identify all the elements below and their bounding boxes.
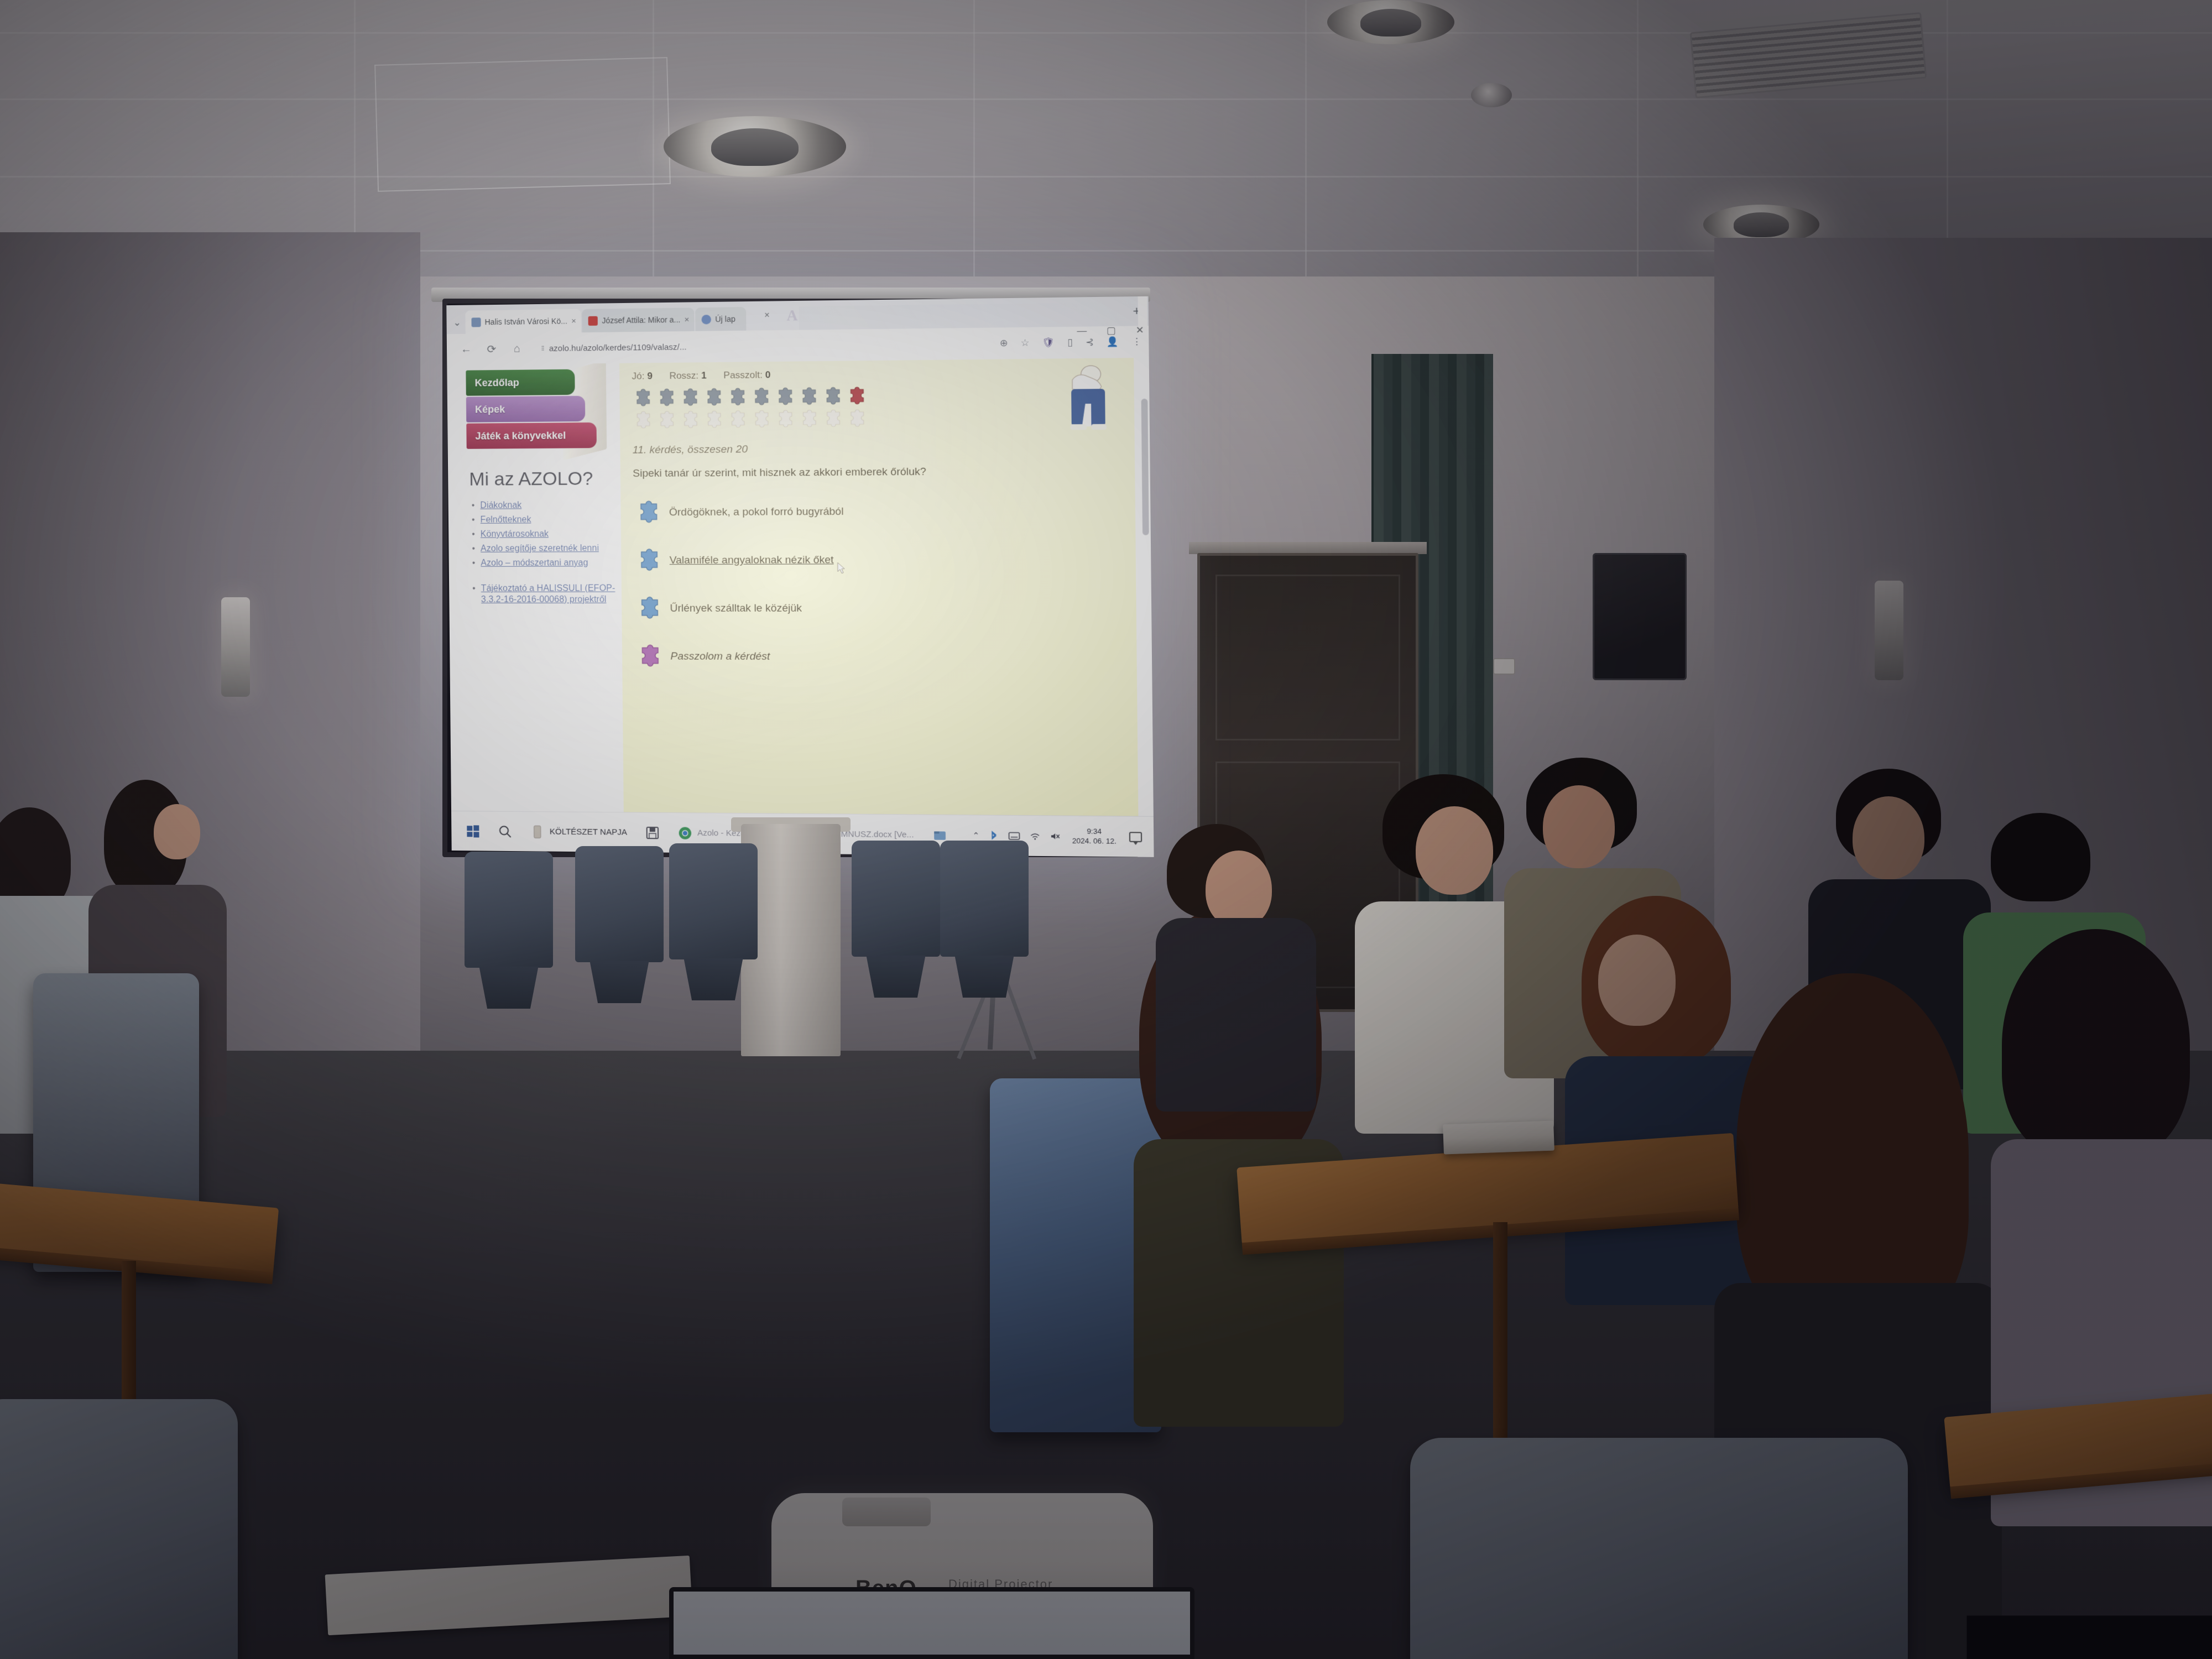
laptop-screen-foreground[interactable]: [669, 1587, 1194, 1659]
reading-list-icon[interactable]: ▯: [1067, 337, 1073, 348]
progress-piece-empty: [679, 410, 698, 430]
sidebar-link-list: • Diákoknak • Felnőtteknek • Könyvtároso…: [467, 499, 622, 605]
projector-lens: [842, 1498, 931, 1526]
show-hidden-icons-chevron-icon[interactable]: ⌃: [972, 830, 979, 841]
score-good: Jó: 9: [632, 371, 653, 382]
ceiling-downlight-left: [1327, 0, 1454, 44]
document-icon: [530, 825, 545, 839]
puzzle-piece-icon: [634, 500, 659, 525]
progress-piece-empty: [774, 410, 794, 429]
taskbar-search-button[interactable]: [489, 812, 521, 852]
score-good-value: 9: [647, 371, 653, 381]
tab-2-title: József Attila: Mikor a...: [602, 315, 680, 325]
sidebar-item-felnotteknek[interactable]: • Felnőtteknek: [472, 514, 621, 526]
sidebar-link-label[interactable]: Felnőtteknek: [481, 514, 531, 525]
clock-date: 2024. 06. 12.: [1072, 836, 1117, 846]
tab-1-title: Halis István Városi Kö...: [484, 316, 567, 326]
sidebar-item-azolo-segitoje[interactable]: • Azolo segítője szeretnék lenni: [472, 543, 621, 555]
page-scrollbar-thumb[interactable]: [1141, 399, 1149, 535]
sidebar-item-diakoknak[interactable]: • Diákoknak: [472, 499, 621, 511]
score-passed: Passzolt: 0: [723, 369, 770, 381]
taskbar-clock[interactable]: 9:34 2024. 06. 12.: [1065, 827, 1123, 846]
sidebar-item-halissuli-projekt[interactable]: • Tájékoztató a HALISSULI (EFOP-3.3.2-16…: [472, 583, 622, 606]
search-icon: [498, 824, 512, 838]
puzzle-piece-icon: [635, 549, 660, 573]
projected-browser-window: ⌄ Halis István Városi Kö... × József Att…: [446, 296, 1154, 857]
shield-adblock-icon[interactable]: 🛡: [1042, 337, 1055, 349]
wall-sconce-left: [221, 597, 250, 697]
quiz-panel: Jó: 9 Rossz: 1 Passzolt: 0 11. kérdés, ö…: [619, 358, 1138, 816]
head: [1598, 935, 1676, 1026]
reload-icon[interactable]: ⟳: [479, 336, 505, 362]
address-bar[interactable]: ⁝⁝ azolo.hu/azolo/kerdes/1109/valasz/...: [533, 333, 990, 359]
profile-avatar-icon[interactable]: 👤: [1107, 336, 1119, 348]
sidebar-link-label[interactable]: Könyvtárosoknak: [481, 529, 549, 540]
puzzle-piece-icon: [635, 596, 660, 620]
progress-piece-empty: [727, 410, 746, 429]
head: [1416, 806, 1493, 895]
answer-3-label: Űrlények szálltak le közéjük: [670, 602, 802, 614]
site-sidebar: Kezdőlap Képek Játék a könyvekkel Mi az …: [447, 363, 624, 812]
browser-tab-1[interactable]: Halis István Városi Kö... ×: [465, 309, 581, 334]
head: [1853, 796, 1924, 879]
hair: [2002, 929, 2190, 1161]
bullet-icon: •: [472, 558, 476, 569]
tab-extra-close-icon[interactable]: ×: [764, 311, 770, 321]
chair-left-bottom[interactable]: [0, 1399, 238, 1659]
head: [154, 804, 200, 859]
progress-piece-correct: [727, 388, 746, 407]
file-explorer-icon: [932, 828, 947, 843]
nav-book-jatek-a-konyvekkel[interactable]: Játék a könyvekkel: [466, 422, 597, 449]
ceiling-downlight-center: [664, 116, 846, 177]
bookmark-star-icon[interactable]: ☆: [1020, 337, 1029, 349]
quiz-score-row: Jó: 9 Rossz: 1 Passzolt: 0: [632, 366, 1134, 382]
tab-2-favicon-youtube-icon: [588, 316, 598, 325]
tab-3-title: Új lap: [715, 314, 741, 324]
progress-piece-correct: [774, 387, 794, 406]
progress-piece-empty: [798, 409, 817, 429]
question-counter: 11. kérdés, összesen 20: [633, 441, 1135, 457]
wall-outlet: [1493, 658, 1515, 675]
progress-piece-empty: [822, 409, 841, 429]
progress-piece-wrong: [846, 387, 865, 406]
progress-piece-empty: [632, 411, 651, 430]
head: [1206, 851, 1272, 928]
progress-piece-empty: [703, 410, 722, 430]
score-passed-value: 0: [765, 369, 771, 380]
ceiling-speaker: [1471, 83, 1512, 107]
window-close-button[interactable]: ✕: [1136, 325, 1144, 336]
home-icon[interactable]: ⌂: [504, 336, 530, 362]
answer-pass-label: Passzolom a kérdést: [670, 650, 770, 663]
puzzle-piece-icon: [635, 644, 660, 669]
score-bad-label: Rossz:: [669, 370, 698, 381]
window-maximize-button[interactable]: ▢: [1107, 325, 1116, 337]
sidebar-item-konyvtarosoknak[interactable]: • Könyvtárosoknak: [472, 529, 621, 540]
progress-piece-empty: [750, 410, 770, 429]
browser-tab-2[interactable]: József Attila: Mikor a... ×: [582, 307, 695, 332]
torso: [1156, 918, 1316, 1112]
answer-option-pass[interactable]: Passzolom a kérdést: [634, 633, 1137, 682]
background-chair-2[interactable]: [575, 846, 664, 962]
answer-option-1[interactable]: Ördögöknek, a pokol forró bugyrából: [633, 486, 1135, 536]
progress-piece-correct: [822, 387, 841, 406]
zoom-icon[interactable]: ⊕: [1000, 338, 1008, 349]
score-bad: Rossz: 1: [669, 370, 707, 382]
bullet-icon: •: [472, 515, 475, 526]
student-center-boy-glasses: [1156, 824, 1322, 1112]
sidebar-heading: Mi az AZOLO?: [469, 468, 620, 491]
progress-piece-correct: [632, 389, 651, 408]
bullet-icon: •: [472, 529, 475, 540]
sidebar-link-label[interactable]: Azolo – módszertani anyag: [481, 557, 588, 569]
browser-tab-3[interactable]: Új lap: [695, 307, 746, 331]
progress-piece-correct: [798, 387, 817, 406]
tab-strip-filler: [799, 302, 1123, 330]
chair-bottom-right[interactable]: [1410, 1438, 1908, 1659]
sidebar-item-azolo-modszertani[interactable]: • Azolo – módszertani anyag: [472, 557, 622, 569]
score-bad-value: 1: [701, 370, 707, 380]
wall-sconce-right: [1875, 581, 1903, 680]
progress-piece-correct: [750, 388, 770, 407]
windows-logo-icon: [466, 824, 480, 838]
background-chair-5[interactable]: [940, 841, 1029, 957]
answer-option-2[interactable]: Valamiféle angyaloknak nézik őket: [633, 535, 1136, 585]
volume-muted-icon[interactable]: [1050, 832, 1061, 841]
mouse-cursor-icon: [837, 562, 847, 574]
bullet-icon: •: [472, 544, 475, 555]
wifi-icon[interactable]: [1030, 831, 1040, 841]
tab-overflow-chevron-icon[interactable]: ⌄: [450, 312, 464, 334]
progress-piece-empty: [846, 409, 865, 429]
score-good-label: Jó:: [632, 371, 644, 381]
score-passed-label: Passzolt:: [723, 369, 763, 380]
answer-option-3[interactable]: Űrlények szálltak le közéjük: [634, 584, 1136, 633]
head: [1543, 785, 1615, 868]
ceiling-tile-light-housing: [374, 57, 671, 192]
door-frame: [1189, 542, 1427, 554]
taskbar-label: KÖLTÉSZET NAPJA: [550, 827, 627, 837]
address-bar-url: azolo.hu/azolo/kerdes/1109/valasz/...: [549, 342, 687, 353]
background-chair-4[interactable]: [852, 841, 940, 957]
keyboard-ime-icon[interactable]: [1009, 831, 1020, 841]
sidebar-link-label[interactable]: Tájékoztató a HALISSULI (EFOP-3.3.2-16-2…: [481, 583, 622, 606]
notification-center-icon[interactable]: [1129, 832, 1142, 842]
tab-1-favicon-document-icon: [471, 317, 481, 327]
nav-book-kepek[interactable]: Képek: [466, 396, 585, 422]
progress-piece-correct: [679, 388, 698, 408]
question-text: Sipeki tanár úr szerint, mit hisznek az …: [633, 465, 1026, 481]
progress-piece-correct: [655, 388, 675, 408]
classroom-scene: ⌄ Halis István Városi Kö... × József Att…: [0, 0, 2212, 1659]
browser-toolbar-icons: ⊕ ☆ 🛡 ▯ ⊰ 👤 ⋮: [990, 336, 1142, 349]
start-button[interactable]: [457, 811, 489, 851]
sidebar-link-label[interactable]: Azolo segítője szeretnék lenni: [481, 543, 599, 555]
tab-2-close-icon[interactable]: ×: [684, 315, 689, 324]
answer-1-label: Ördögöknek, a pokol forró bugyrából: [669, 505, 844, 519]
bullet-icon: •: [472, 500, 475, 512]
book-stack-navigation: Kezdőlap Képek Játék a könyvekkel: [466, 369, 606, 455]
nav-book-kezdolap[interactable]: Kezdőlap: [466, 369, 575, 396]
site-info-icon[interactable]: ⁝⁝: [541, 344, 543, 353]
extensions-icon[interactable]: ⊰: [1086, 337, 1094, 348]
laptop-display: [674, 1592, 1190, 1655]
background-chair-3[interactable]: [669, 843, 758, 959]
floppy-save-icon: [645, 825, 660, 839]
window-controls: — ▢ ✕: [1077, 325, 1144, 337]
bluetooth-icon[interactable]: [989, 831, 999, 841]
tab-3-favicon-browser-icon: [702, 315, 712, 324]
webpage-content: Kezdőlap Képek Játék a könyvekkel Mi az …: [447, 358, 1154, 816]
bullet-icon: •: [472, 583, 476, 606]
quiz-progress-pieces: [632, 387, 876, 430]
progress-piece-empty: [656, 411, 675, 430]
tab-1-close-icon[interactable]: ×: [571, 316, 576, 326]
progress-piece-correct: [703, 388, 722, 407]
window-minimize-button[interactable]: —: [1077, 325, 1087, 337]
background-chair-1[interactable]: [465, 852, 553, 968]
sidebar-link-label[interactable]: Diákoknak: [480, 500, 521, 511]
clock-time: 9:34: [1072, 827, 1117, 836]
answer-2-label: Valamiféle angyaloknak nézik őket: [670, 554, 834, 567]
answer-list: Ördögöknek, a pokol forró bugyrából Vala…: [633, 486, 1137, 682]
books-on-table: [1443, 1121, 1554, 1155]
system-tray: ⌃: [972, 830, 1065, 841]
back-arrow-icon[interactable]: ←: [453, 336, 479, 362]
adobe-acrobat-icon: A: [786, 307, 797, 325]
wall-mounted-speaker: [1593, 553, 1687, 680]
azolo-mascot-figure: [1061, 364, 1115, 437]
chrome-icon: [677, 826, 692, 840]
hair: [1991, 813, 2090, 901]
